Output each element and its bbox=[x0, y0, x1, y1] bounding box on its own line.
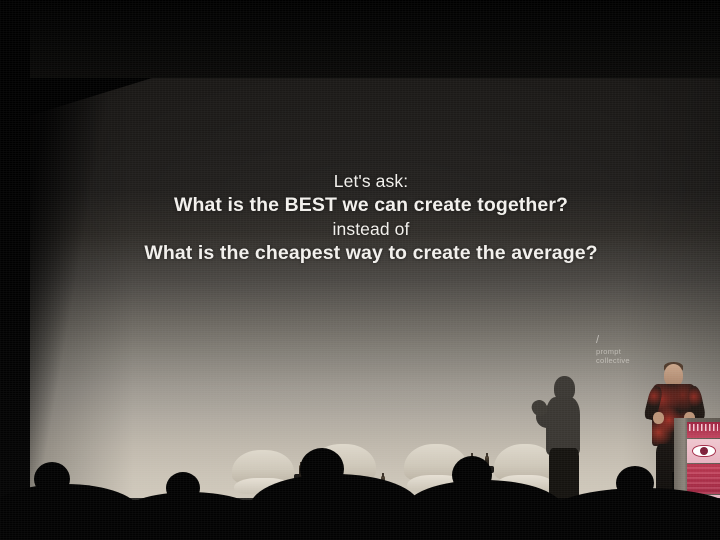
podium bbox=[674, 418, 720, 530]
left-wall bbox=[0, 0, 30, 540]
slide-text-block: Let's ask: What is the BEST we can creat… bbox=[22, 170, 720, 266]
podium-panel-stripes bbox=[689, 424, 718, 431]
logo-line-collective: collective bbox=[596, 356, 630, 365]
tree-icon bbox=[709, 511, 720, 524]
conference-photo-scene: Let's ask: What is the BEST we can creat… bbox=[0, 0, 720, 540]
slide-line-3: instead of bbox=[22, 218, 720, 241]
logo-slash-icon: / bbox=[596, 336, 630, 346]
podium-panel-bottom bbox=[687, 495, 720, 530]
screen-left-falloff bbox=[22, 78, 142, 508]
speaker-hand-left bbox=[653, 412, 664, 424]
prompt-collective-logo: / prompt collective bbox=[596, 336, 630, 365]
stage-floor bbox=[0, 500, 720, 540]
podium-panel-mid bbox=[687, 464, 720, 494]
tree-icon bbox=[689, 507, 701, 520]
podium-panel-top bbox=[687, 422, 720, 438]
silhouette-legs bbox=[549, 448, 579, 506]
projection-screen: Let's ask: What is the BEST we can creat… bbox=[22, 78, 720, 508]
slide-line-4: What is the cheapest way to create the a… bbox=[22, 241, 720, 266]
logo-line-prompt: prompt bbox=[596, 347, 630, 356]
ceiling-band bbox=[0, 0, 720, 82]
slide-line-2: What is the BEST we can create together? bbox=[22, 193, 720, 218]
silhouette-presenter bbox=[530, 376, 586, 504]
screen-corner-mask bbox=[22, 78, 152, 118]
eye-icon bbox=[692, 445, 716, 457]
screen-vignette bbox=[22, 78, 720, 508]
slide-line-1: Let's ask: bbox=[22, 170, 720, 193]
podium-panel-eye bbox=[687, 439, 720, 463]
